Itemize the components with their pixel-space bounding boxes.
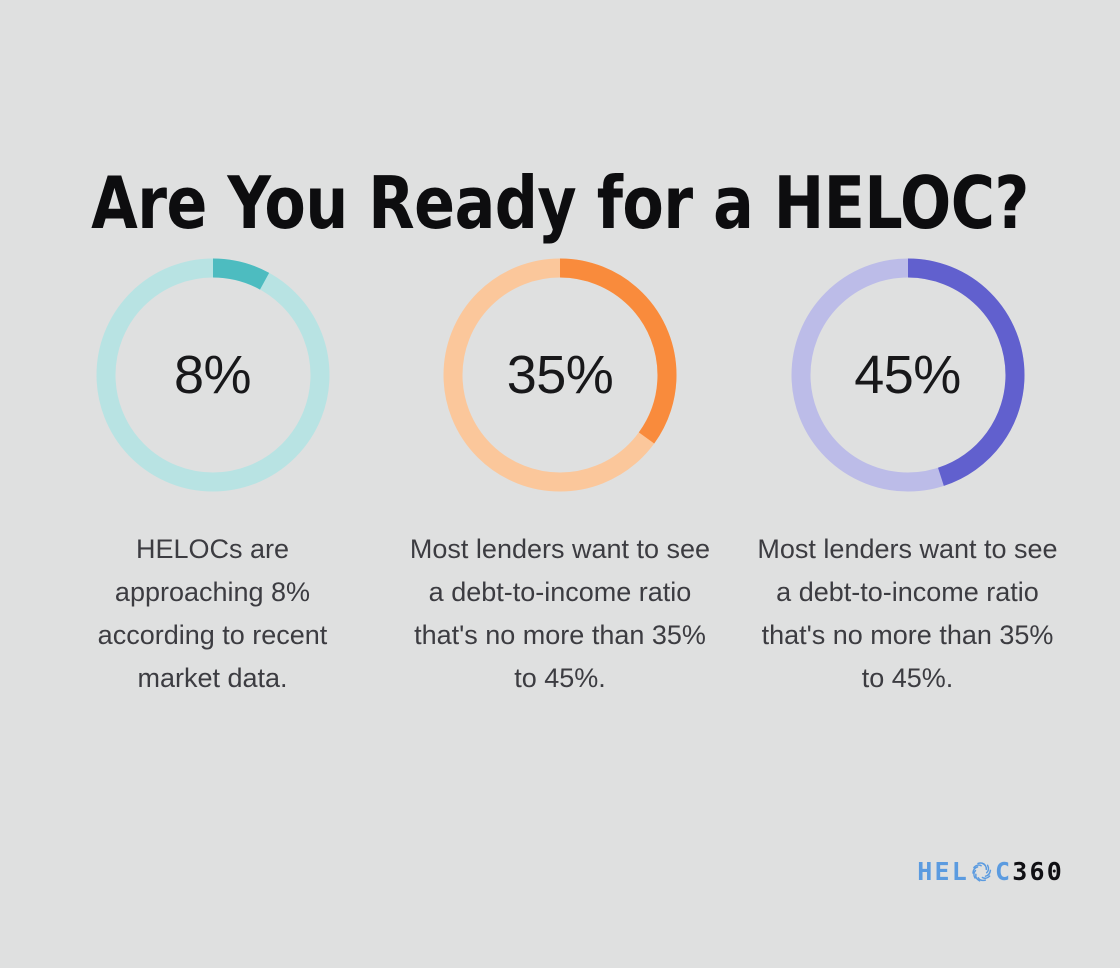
logo-text-c: C [995,859,1012,884]
stat-card-dti-upper: 45% Most lenders want to see a debt-to-i… [755,258,1060,700]
donut-chart-1: 8% [96,258,330,492]
logo-text-360: 360 [1012,859,1064,884]
stats-row: 8% HELOCs are approaching 8% according t… [60,258,1060,700]
donut-chart-2: 35% [443,258,677,492]
brand-logo: HEL C [917,856,1064,886]
stat-caption-3: Most lenders want to see a debt-to-incom… [755,528,1060,700]
page-title: Are You Ready for a HELOC? [39,160,1081,246]
stat-card-heloc-rate: 8% HELOCs are approaching 8% according t… [60,258,365,700]
spiral-o-icon [970,860,994,884]
logo-lockup: HEL C [917,859,1064,884]
donut-value-1: 8% [96,258,330,492]
donut-chart-3: 45% [791,258,1025,492]
stat-caption-1: HELOCs are approaching 8% according to r… [60,528,365,700]
stat-caption-2: Most lenders want to see a debt-to-incom… [408,528,713,700]
donut-value-3: 45% [791,258,1025,492]
stat-card-dti-lower: 35% Most lenders want to see a debt-to-i… [408,258,713,700]
logo-text-heloc: HEL [917,859,969,884]
infographic-poster: Are You Ready for a HELOC? 8% HELOCs are… [0,0,1120,968]
donut-value-2: 35% [443,258,677,492]
